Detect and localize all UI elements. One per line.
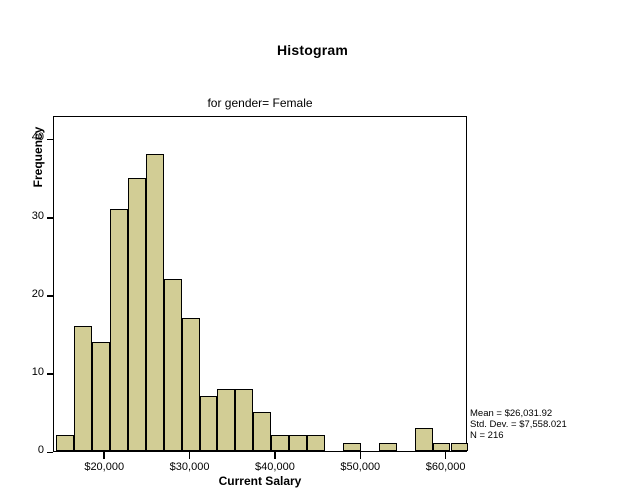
x-tick-label: $20,000	[84, 461, 124, 473]
histogram-bar	[182, 318, 200, 451]
histogram-bar	[92, 342, 110, 451]
stat-n: N = 216	[470, 430, 567, 441]
chart-subtitle: for gender= Female	[53, 96, 467, 110]
histogram-bar	[56, 435, 74, 451]
histogram-chart: Histogram for gender= Female Frequency 0…	[0, 0, 625, 500]
y-tick-label: 0	[38, 444, 44, 456]
histogram-bar	[451, 443, 469, 451]
histogram-bar	[307, 435, 325, 451]
histogram-bar	[379, 443, 397, 451]
bars-layer	[54, 117, 466, 451]
y-tick-label: 10	[32, 366, 44, 378]
y-tick-label: 20	[32, 288, 44, 300]
y-tick: 10	[0, 374, 53, 375]
histogram-bar	[217, 389, 235, 452]
x-tick-label: $50,000	[340, 461, 380, 473]
x-tick-mark	[360, 452, 362, 459]
statistics-annotation: Mean = $26,031.92 Std. Dev. = $7,558.021…	[470, 408, 567, 441]
x-tick-mark	[445, 452, 447, 459]
histogram-bar	[146, 154, 164, 451]
stat-mean: Mean = $26,031.92	[470, 408, 567, 419]
histogram-bar	[110, 209, 128, 451]
histogram-bar	[235, 389, 253, 452]
x-axis-label: Current Salary	[53, 474, 467, 488]
histogram-bar	[253, 412, 271, 451]
histogram-bar	[415, 428, 433, 451]
histogram-bar	[343, 443, 361, 451]
histogram-bar	[164, 279, 182, 451]
histogram-bar	[74, 326, 92, 451]
y-tick: 40	[0, 139, 53, 140]
x-tick-label: $60,000	[426, 461, 466, 473]
histogram-bar	[289, 435, 307, 451]
plot-area	[53, 116, 467, 452]
stat-std-dev: Std. Dev. = $7,558.021	[470, 419, 567, 430]
y-axis-label: Frequency	[31, 97, 45, 217]
histogram-bar	[200, 396, 218, 451]
x-tick-mark	[274, 452, 276, 459]
x-tick-label: $30,000	[170, 461, 210, 473]
y-tick: 20	[0, 296, 53, 297]
y-tick: 0	[0, 452, 53, 453]
y-tick-label: 40	[32, 131, 44, 143]
x-tick-mark	[103, 452, 105, 459]
histogram-bar	[433, 443, 451, 451]
histogram-bar	[128, 178, 146, 451]
chart-title: Histogram	[0, 42, 625, 58]
x-tick-mark	[189, 452, 191, 459]
histogram-bar	[271, 435, 289, 451]
x-tick-label: $40,000	[255, 461, 295, 473]
y-tick: 30	[0, 218, 53, 219]
y-tick-label: 30	[32, 210, 44, 222]
